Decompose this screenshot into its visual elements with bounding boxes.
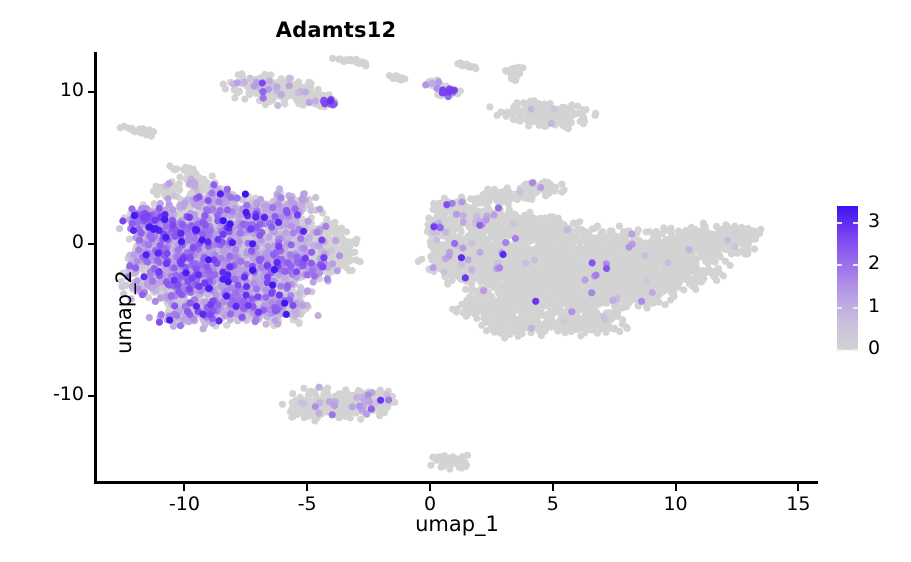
x-tick-mark bbox=[797, 484, 799, 491]
figure-canvas: Adamts12 -10-5051015 100-10 umap_2 umap_… bbox=[0, 0, 911, 562]
scatter-plot-area bbox=[96, 52, 818, 481]
colorbar-tick-mark bbox=[853, 307, 858, 309]
x-tick-mark bbox=[675, 484, 677, 491]
colorbar-tick-mark bbox=[837, 307, 842, 309]
y-tick-mark bbox=[88, 243, 95, 245]
chart-title: Adamts12 bbox=[0, 18, 672, 42]
colorbar-tick-mark bbox=[853, 349, 858, 351]
y-tick-label: -10 bbox=[16, 383, 84, 405]
colorbar-tick-mark bbox=[837, 222, 842, 224]
x-tick-mark bbox=[552, 484, 554, 491]
x-tick-mark bbox=[429, 484, 431, 491]
scatter-points bbox=[96, 52, 818, 481]
colorbar-tick-label: 0 bbox=[868, 337, 880, 359]
colorbar-tick-label: 3 bbox=[868, 210, 880, 232]
colorbar-gradient bbox=[837, 206, 858, 350]
colorbar-tick-mark bbox=[837, 349, 842, 351]
x-tick-mark bbox=[183, 484, 185, 491]
colorbar-tick-mark bbox=[853, 264, 858, 266]
colorbar-tick-mark bbox=[837, 264, 842, 266]
x-axis-spine bbox=[94, 481, 818, 484]
colorbar-tick-label: 1 bbox=[868, 295, 880, 317]
y-tick-mark bbox=[88, 395, 95, 397]
y-tick-label: 0 bbox=[16, 231, 84, 253]
plot-axes: -10-5051015 100-10 umap_2 bbox=[96, 52, 818, 481]
y-tick-label: 10 bbox=[16, 79, 84, 101]
y-axis-label: umap_2 bbox=[112, 202, 136, 422]
x-tick-mark bbox=[306, 484, 308, 491]
y-tick-mark bbox=[88, 91, 95, 93]
colorbar-tick-mark bbox=[853, 222, 858, 224]
colorbar-tick-label: 2 bbox=[868, 252, 880, 274]
x-axis-label: umap_1 bbox=[96, 512, 818, 536]
